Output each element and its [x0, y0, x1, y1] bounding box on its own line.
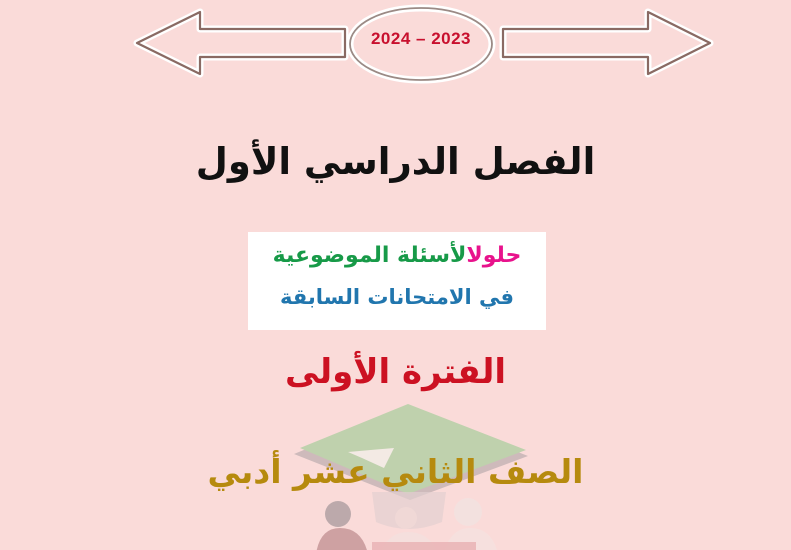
arrow-right-icon	[503, 12, 710, 74]
figure-body-right-icon	[444, 528, 498, 550]
year-badge-label: 2024 – 2023	[350, 29, 492, 49]
subject-line-2: في الامتحانات السابقة	[248, 282, 546, 312]
figure-head-center-icon	[395, 507, 417, 529]
grade-title: الصف الثاني عشر أدبي	[0, 452, 791, 491]
subject-line-1: حلولالأسئلة الموضوعية	[248, 241, 546, 271]
period-title: الفترة الأولى	[0, 352, 791, 392]
solutions-word: حلول	[466, 243, 521, 268]
figure-base-band-icon	[372, 542, 476, 550]
poster-page: 2024 – 2023 الفصل الدراسي الأول حلولالأس…	[0, 0, 791, 550]
figure-body-left-icon	[316, 528, 368, 550]
arrow-left-icon	[137, 12, 345, 74]
figure-head-left-icon	[325, 501, 351, 527]
figure-head-right-icon	[454, 498, 482, 526]
objective-questions-words: الأسئلة الموضوعية	[273, 243, 467, 268]
semester-title: الفصل الدراسي الأول	[0, 140, 791, 183]
figure-body-center-icon	[380, 532, 438, 550]
cap-body-icon	[372, 492, 446, 529]
subject-box: حلولالأسئلة الموضوعية في الامتحانات السا…	[248, 232, 546, 330]
